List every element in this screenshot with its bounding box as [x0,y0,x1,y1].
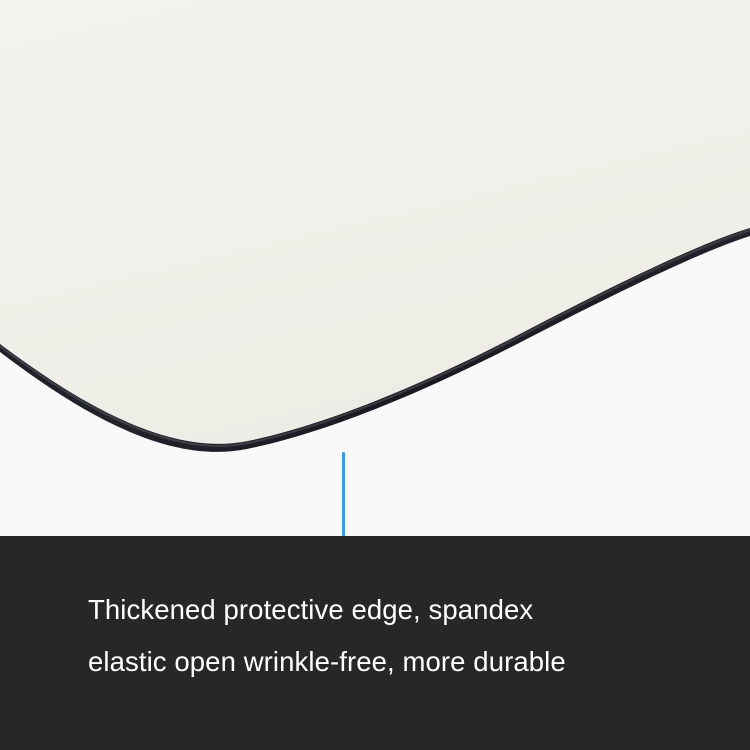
product-figure: Thickened protective edge, spandex elast… [0,0,750,750]
caption-line-2: elastic open wrinkle-free, more durable [88,636,680,688]
caption-line-1: Thickened protective edge, spandex [88,584,680,636]
caption-panel: Thickened protective edge, spandex elast… [0,536,750,750]
